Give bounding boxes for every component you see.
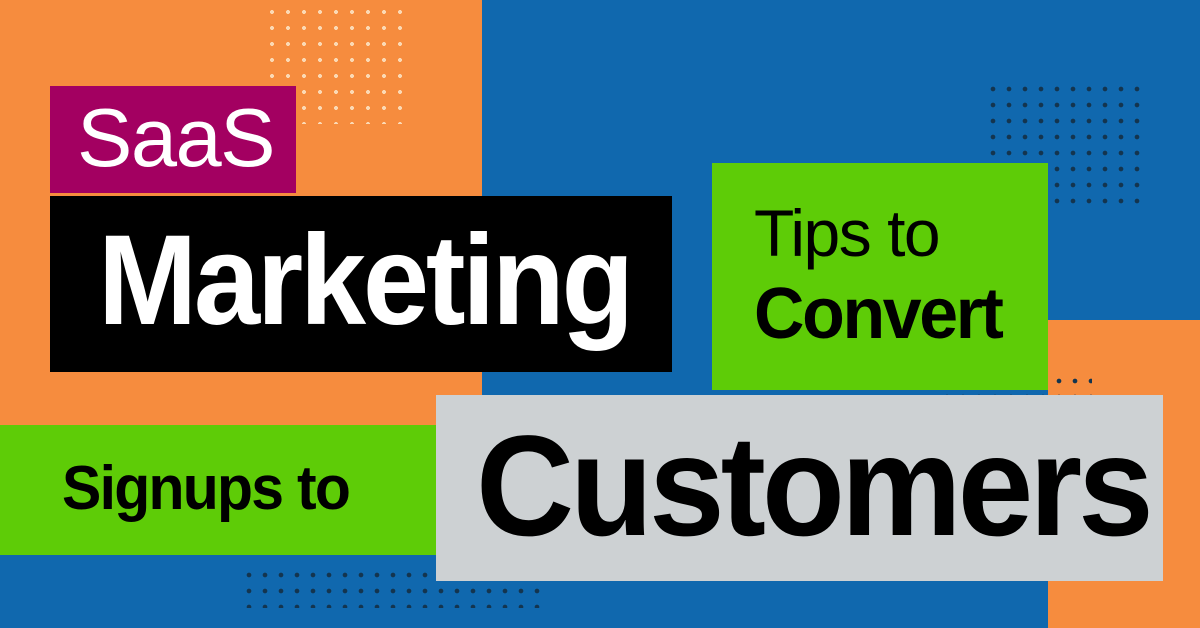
social-banner-canvas: SaaS Marketing Tips to Convert Signups t… <box>0 0 1200 628</box>
headline-tips-text: Tips to <box>754 200 1048 267</box>
headline-marketing-box: Marketing <box>50 196 672 372</box>
headline-convert-text: Convert <box>754 277 1039 353</box>
headline-customers-text: Customers <box>476 415 1150 558</box>
headline-eyebrow-text: SaaS <box>77 96 274 179</box>
headline-signups-box: Signups to <box>0 425 436 555</box>
headline-tips-convert-box: Tips to Convert <box>712 163 1048 390</box>
headline-customers-box: Customers <box>436 395 1163 581</box>
headline-eyebrow-box: SaaS <box>50 86 296 193</box>
headline-signups-text: Signups to <box>62 458 349 520</box>
headline-marketing-text: Marketing <box>98 217 631 345</box>
